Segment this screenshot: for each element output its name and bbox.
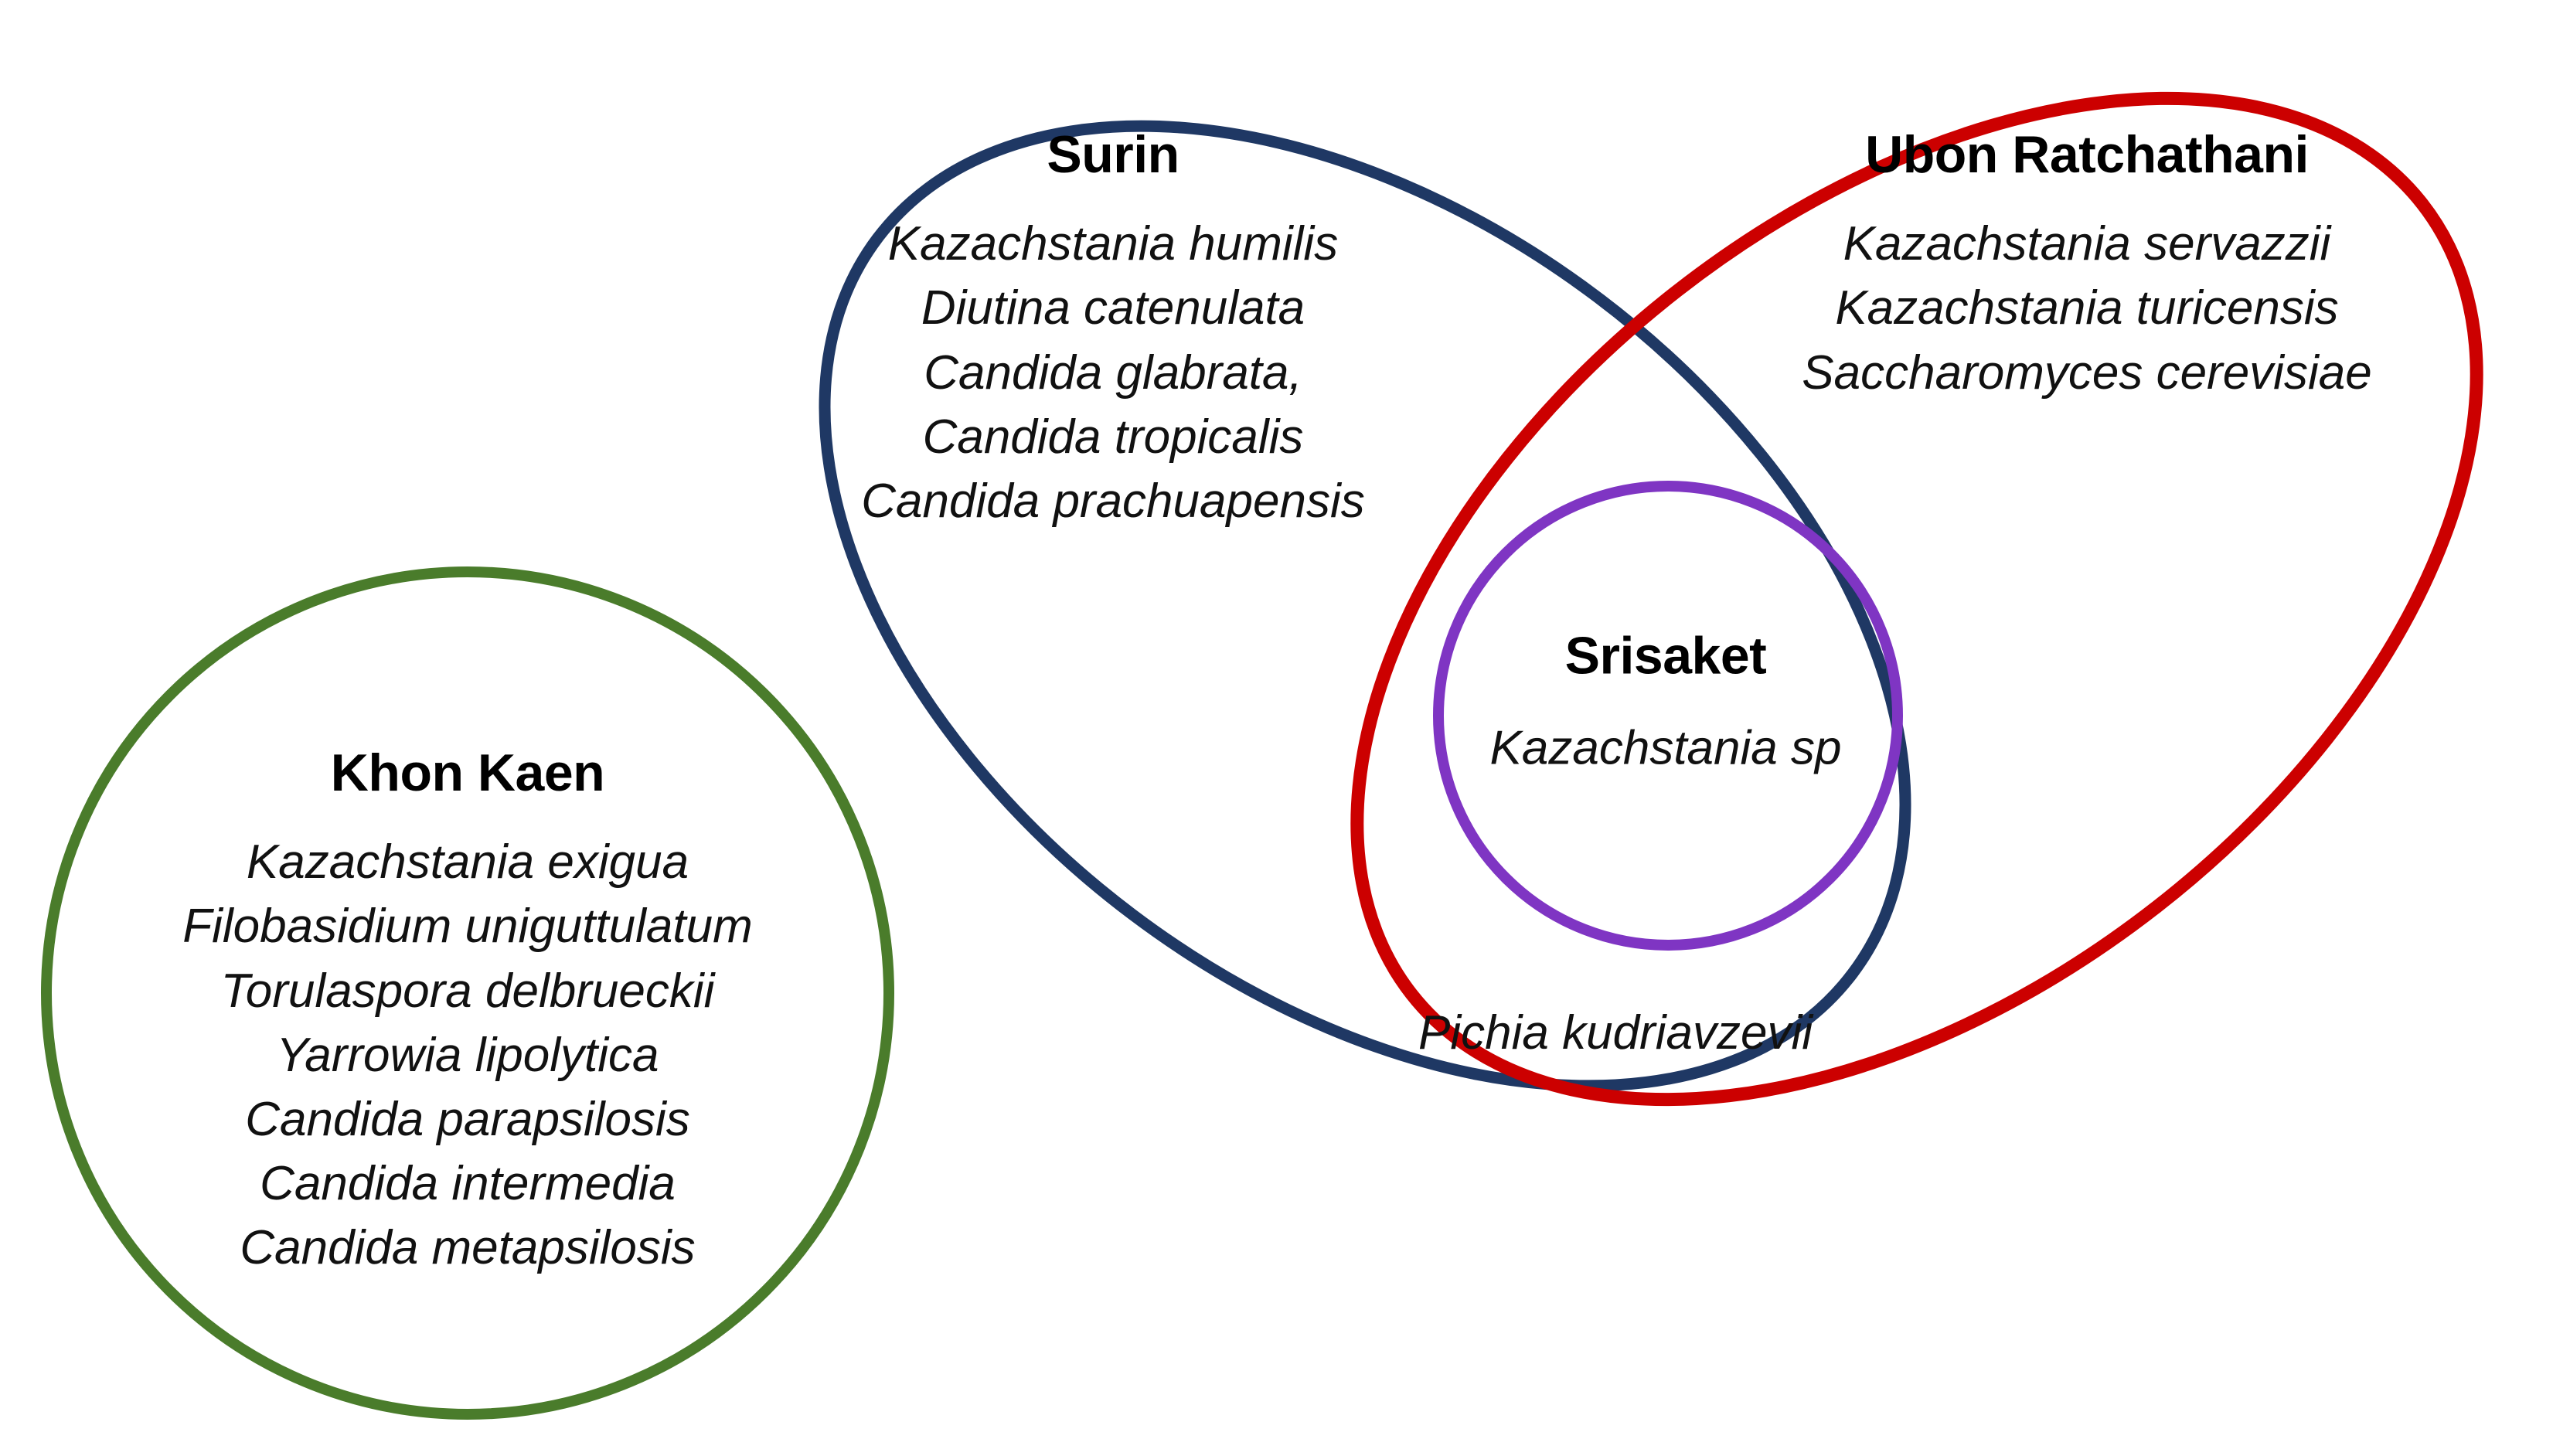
srisaket-species-list: Kazachstania sp bbox=[1490, 716, 1842, 781]
species-item: Yarrowia lipolytica bbox=[182, 1023, 753, 1087]
khon-kaen-region-label: Khon Kaen Kazachstania exigua Filobasidi… bbox=[182, 746, 753, 1280]
ubon-ratchathani-species-list: Kazachstania servazzii Kazachstania turi… bbox=[1802, 212, 2371, 404]
species-item: Candida glabrata, bbox=[861, 341, 1364, 405]
species-item: Kazachstania humilis bbox=[861, 212, 1364, 276]
species-item: Candida tropicalis bbox=[861, 405, 1364, 469]
species-item: Filobasidium uniguttulatum bbox=[182, 894, 753, 958]
shared-overlap-label: Pichia kudriavzevii bbox=[1418, 1001, 1813, 1065]
species-item: Kazachstania turicensis bbox=[1802, 276, 2371, 340]
species-item: Candida parapsilosis bbox=[182, 1087, 753, 1152]
srisaket-title: Srisaket bbox=[1490, 629, 1842, 684]
species-item: Torulaspora delbrueckii bbox=[182, 959, 753, 1023]
surin-title: Surin bbox=[861, 128, 1364, 182]
ubon-ratchathani-title: Ubon Ratchathani bbox=[1802, 128, 2371, 182]
species-item: Kazachstania exigua bbox=[182, 830, 753, 894]
species-item: Candida intermedia bbox=[182, 1152, 753, 1216]
ubon-ratchathani-region-label: Ubon Ratchathani Kazachstania servazzii … bbox=[1802, 128, 2371, 405]
khon-kaen-species-list: Kazachstania exigua Filobasidium unigutt… bbox=[182, 830, 753, 1280]
venn-diagram: Khon Kaen Kazachstania exigua Filobasidi… bbox=[0, 0, 2570, 1456]
species-item: Candida metapsilosis bbox=[182, 1216, 753, 1280]
srisaket-region-label: Srisaket Kazachstania sp bbox=[1490, 629, 1842, 781]
species-item: Saccharomyces cerevisiae bbox=[1802, 341, 2371, 405]
species-item: Diutina catenulata bbox=[861, 276, 1364, 340]
surin-region-label: Surin Kazachstania humilis Diutina caten… bbox=[861, 128, 1364, 533]
khon-kaen-title: Khon Kaen bbox=[182, 746, 753, 801]
species-item: Kazachstania servazzii bbox=[1802, 212, 2371, 276]
species-item: Kazachstania sp bbox=[1490, 716, 1842, 781]
species-item: Candida prachuapensis bbox=[861, 469, 1364, 533]
surin-species-list: Kazachstania humilis Diutina catenulata … bbox=[861, 212, 1364, 532]
species-item: Pichia kudriavzevii bbox=[1418, 1001, 1813, 1065]
shared-species-list: Pichia kudriavzevii bbox=[1418, 1001, 1813, 1065]
